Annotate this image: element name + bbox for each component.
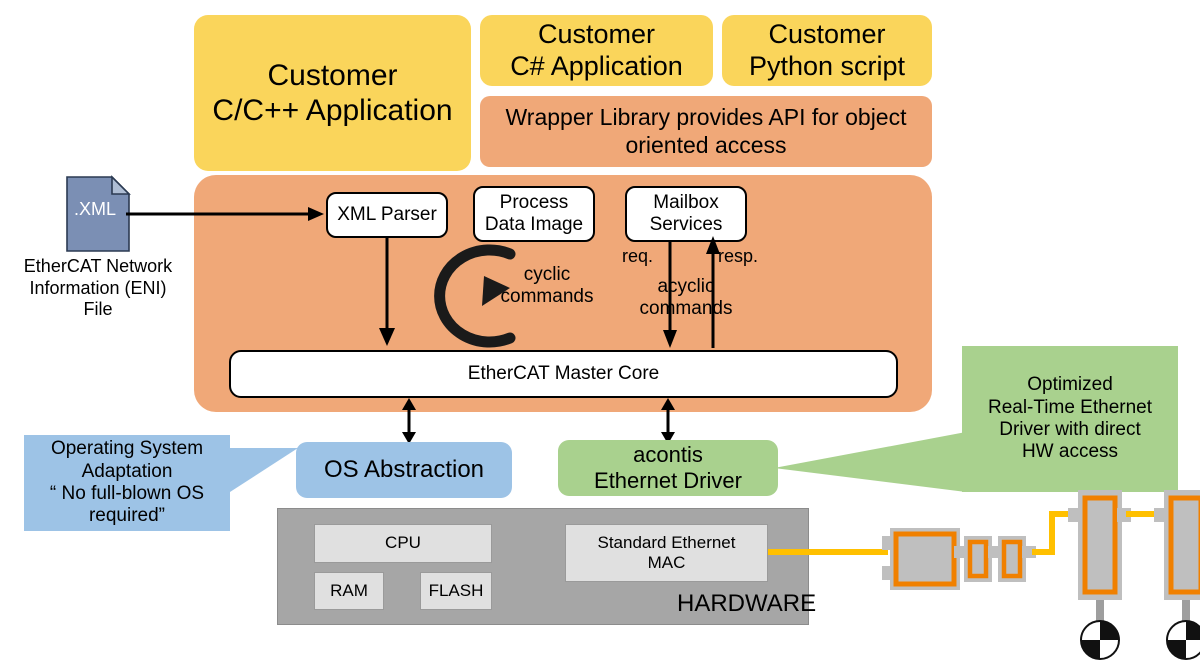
os-abstraction-box: OS Abstraction (296, 442, 512, 498)
os-callout-line4: required” (89, 505, 165, 527)
os-abstraction-label: OS Abstraction (324, 456, 484, 484)
flash-label: FLASH (429, 581, 484, 601)
core-to-os-double-arrow (395, 398, 423, 444)
customer-cpp-line2: C/C++ Application (212, 93, 452, 128)
ethercat-master-core-box: EtherCAT Master Core (229, 350, 898, 398)
customer-cpp-application-box: Customer C/C++ Application (194, 15, 471, 171)
eni-caption: EtherCAT Network Information (ENI) File (10, 256, 186, 321)
driver-callout-tail (774, 432, 966, 494)
pdi-line1: Process (500, 192, 569, 214)
os-callout-tail (230, 446, 300, 496)
ethercat-slave-network (760, 490, 1200, 669)
mac-line1: Standard Ethernet (598, 533, 736, 553)
motor-icon-1 (1081, 621, 1119, 659)
eni-to-parser-arrow (126, 196, 326, 232)
core-to-driver-double-arrow (654, 398, 682, 444)
wrapper-line1: Wrapper Library provides API for object (506, 104, 907, 131)
slave-device-5 (1154, 490, 1200, 659)
parser-to-core-arrow (372, 238, 402, 348)
resp-label: resp. (718, 246, 758, 267)
req-label: req. (622, 246, 653, 267)
os-callout-line1: Operating System (51, 438, 203, 460)
driver-callout-line2: Real-Time Ethernet (988, 397, 1152, 419)
customer-python-line2: Python script (749, 51, 905, 83)
cyclic-line2: commands (501, 286, 594, 308)
pdi-line2: Data Image (485, 214, 583, 236)
eni-caption-line2: Information (ENI) (10, 278, 186, 300)
eni-caption-line1: EtherCAT Network (10, 256, 186, 278)
acyclic-line1: acyclic (657, 276, 714, 298)
cyclic-commands-label: cyclic commands (492, 258, 602, 314)
eni-caption-line3: File (10, 299, 186, 321)
process-data-image-box: Process Data Image (473, 186, 595, 242)
customer-csharp-line1: Customer (538, 19, 655, 51)
standard-ethernet-mac-chip: Standard Ethernet MAC (565, 524, 768, 582)
customer-csharp-application-box: Customer C# Application (480, 15, 713, 86)
mac-line2: MAC (648, 553, 686, 573)
cpu-label: CPU (385, 533, 421, 553)
customer-python-script-box: Customer Python script (722, 15, 932, 86)
driver-callout-line1: Optimized (1027, 374, 1113, 396)
acyclic-line2: commands (640, 298, 733, 320)
master-core-label: EtherCAT Master Core (468, 363, 659, 385)
customer-python-line1: Customer (768, 19, 885, 51)
ram-chip: RAM (314, 572, 384, 610)
flash-chip: FLASH (420, 572, 492, 610)
optimized-driver-callout: Optimized Real-Time Ethernet Driver with… (962, 346, 1178, 492)
xml-icon-label: .XML (66, 196, 124, 224)
cpu-chip: CPU (314, 524, 492, 563)
slave-device-3 (988, 536, 1036, 582)
driver-line2: Ethernet Driver (594, 468, 742, 494)
slave-device-4 (1068, 490, 1131, 659)
acyclic-commands-label: acyclic commands (629, 272, 743, 324)
mailbox-services-box: Mailbox Services (625, 186, 747, 242)
customer-cpp-line1: Customer (267, 58, 397, 93)
ram-label: RAM (330, 581, 368, 601)
xml-parser-box: XML Parser (326, 192, 448, 238)
slave-device-1 (882, 528, 960, 590)
mailbox-line1: Mailbox (653, 192, 718, 214)
driver-line1: acontis (633, 442, 703, 468)
customer-csharp-line2: C# Application (510, 51, 683, 83)
wrapper-library-box: Wrapper Library provides API for object … (480, 96, 932, 167)
os-adaptation-callout: Operating System Adaptation “ No full-bl… (24, 435, 230, 531)
diagram-canvas: Customer C/C++ Application Customer C# A… (0, 0, 1200, 669)
acontis-ethernet-driver-box: acontis Ethernet Driver (558, 440, 778, 496)
os-callout-line3: “ No full-blown OS (50, 483, 204, 505)
motor-icon-2 (1167, 621, 1200, 659)
mailbox-line2: Services (650, 214, 723, 236)
os-callout-line2: Adaptation (82, 461, 173, 483)
xml-parser-label: XML Parser (337, 204, 437, 226)
cyclic-line1: cyclic (524, 264, 570, 286)
wrapper-line2: oriented access (625, 132, 786, 159)
driver-callout-line4: HW access (1022, 441, 1118, 463)
driver-callout-line3: Driver with direct (999, 419, 1140, 441)
